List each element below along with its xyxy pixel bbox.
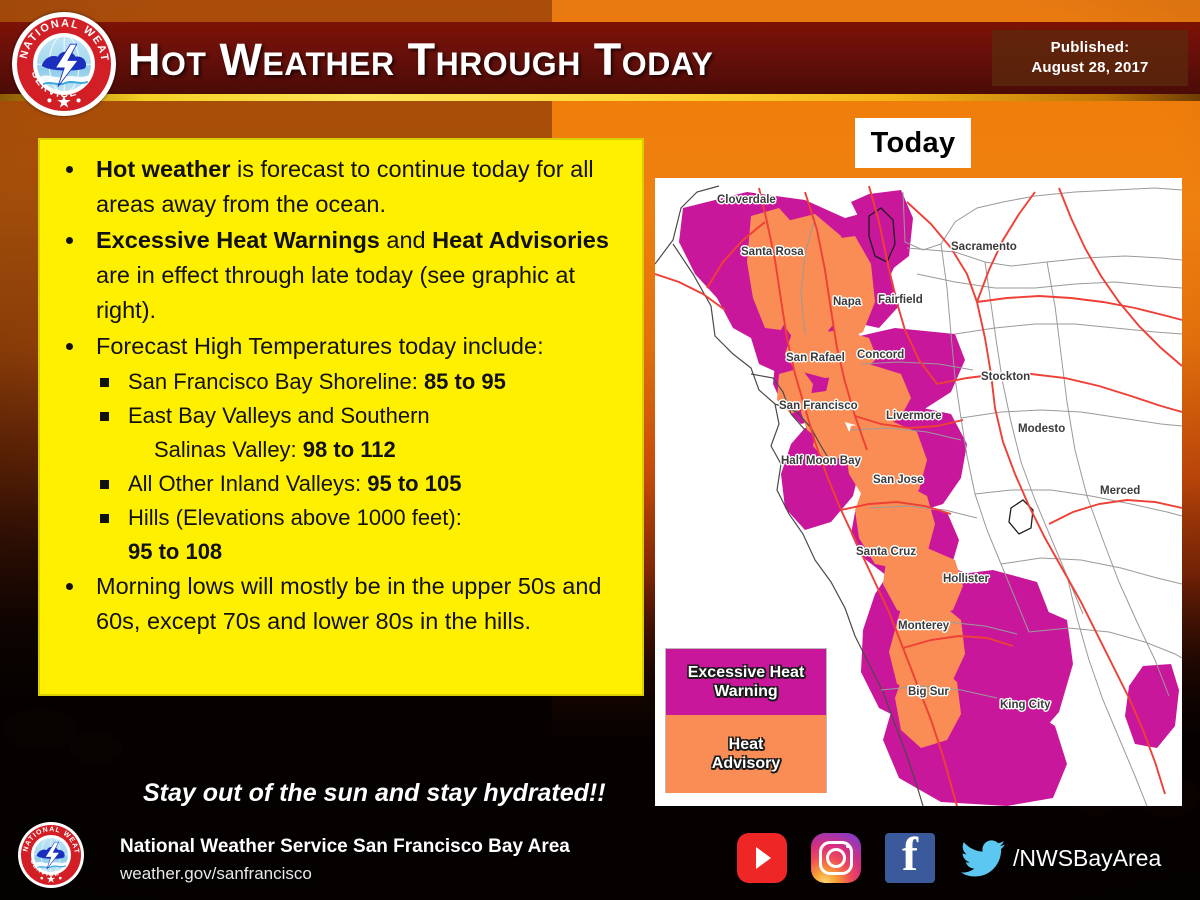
sub-bullet-hills: Hills (Elevations above 1000 feet): 95 t… [50,501,628,569]
bullet-warnings-bold-2: Heat Advisories [432,227,609,253]
sub-bullet-inland-valleys: All Other Inland Valleys: 95 to 105 [50,467,628,501]
facebook-icon[interactable] [885,833,935,883]
bullet-forecast-highs: Forecast High Temperatures today include… [50,329,628,364]
bullet-dot-icon [66,166,73,173]
square-bullet-icon [100,514,109,523]
bullet-dot-icon [66,237,73,244]
square-bullet-icon [100,480,109,489]
page-title: Hot Weather Through Today [128,34,713,86]
instagram-icon[interactable] [811,833,861,883]
sub-bullet-bay-shoreline-label: San Francisco Bay Shoreline: [128,369,424,394]
safety-tagline: Stay out of the sun and stay hydrated!! [143,779,606,808]
map-today-label: Today [855,118,971,168]
agency-url[interactable]: weather.gov/sanfrancisco [120,864,312,884]
sub-bullet-east-bay-value: 98 to 112 [303,437,396,462]
sub-bullet-hills-label: Hills (Elevations above 1000 feet): [128,505,462,530]
bullet-dot-icon [66,583,73,590]
bullet-hot-weather-bold: Hot weather [96,156,231,182]
agency-name: National Weather Service San Francisco B… [120,836,570,858]
legend-item-excessive-heat-warning: Excessive Heat Warning [666,649,826,715]
nws-seal-icon: NATIONAL WEATHER SERVICE [18,822,84,888]
published-date: August 28, 2017 [992,58,1188,78]
social-handle: /NWSBayArea [1013,845,1161,872]
twitter-icon[interactable] [955,833,1011,883]
weather-graphic-poster: Hot Weather Through Today NATIONAL WEATH… [0,0,1200,900]
sub-bullet-bay-shoreline-value: 85 to 95 [424,369,506,394]
bullet-warnings-and: and [380,227,432,253]
sub-bullet-east-bay: East Bay Valleys and Southern Salinas Va… [50,399,628,467]
sub-bullet-bay-shoreline: San Francisco Bay Shoreline: 85 to 95 [50,365,628,399]
bullet-morning-lows-text: Morning lows will mostly be in the upper… [96,573,602,634]
bullet-warnings-bold-1: Excessive Heat Warnings [96,227,380,253]
sub-bullet-hills-value: 95 to 108 [128,539,222,564]
legend-advisory-line2: Advisory [712,754,780,773]
bullet-hot-weather: Hot weather is forecast to continue toda… [50,152,628,222]
header-underline [0,94,1200,101]
legend-warning-line1: Excessive Heat [688,663,805,682]
sub-bullet-inland-valleys-value: 95 to 105 [367,471,461,496]
bullet-morning-lows: Morning lows will mostly be in the upper… [50,569,628,639]
legend-warning-line2: Warning [688,682,805,701]
forecast-text-panel: Hot weather is forecast to continue toda… [38,138,644,696]
map-legend: Excessive Heat Warning Heat Advisory [665,648,827,793]
bullet-warnings-rest: are in effect through late today (see gr… [96,262,575,323]
sub-bullet-inland-valleys-label: All Other Inland Valleys: [128,471,367,496]
square-bullet-icon [100,378,109,387]
youtube-icon[interactable] [737,833,787,883]
published-label: Published: [992,38,1188,58]
bullet-forecast-highs-text: Forecast High Temperatures today include… [96,333,544,359]
legend-item-heat-advisory: Heat Advisory [666,715,826,793]
published-badge: Published: August 28, 2017 [992,30,1188,86]
nws-seal-icon: NATIONAL WEATHER SERVICE [12,12,116,116]
square-bullet-icon [100,412,109,421]
bullet-warnings: Excessive Heat Warnings and Heat Advisor… [50,223,628,328]
legend-advisory-line1: Heat [712,735,780,754]
bullet-dot-icon [66,343,73,350]
sub-bullet-east-bay-line1: East Bay Valleys and Southern [128,403,430,428]
sub-bullet-east-bay-line2: Salinas Valley: [154,437,303,462]
